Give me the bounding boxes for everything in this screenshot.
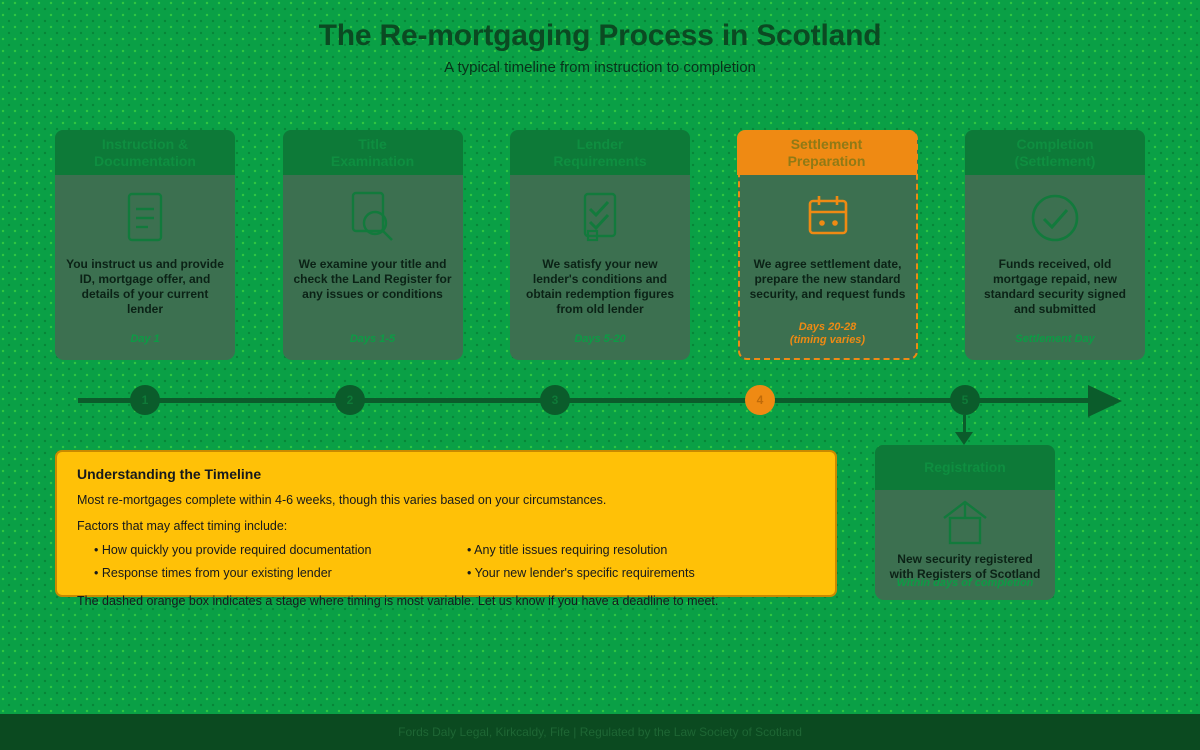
page-header: The Re-mortgaging Process in Scotland A … — [0, 14, 1200, 80]
stage-description: We agree settlement date, prepare the ne… — [740, 257, 916, 302]
stage-description: We satisfy your new lender's conditions … — [510, 257, 690, 317]
info-box-factor-list: • How quickly you provide required docum… — [77, 543, 815, 581]
stage-title: Settlement Preparation — [788, 136, 866, 170]
timeline-line — [78, 398, 1094, 403]
info-box-factors-intro: Factors that may affect timing include: — [77, 519, 815, 534]
stage-timing: Days 5-20 — [510, 333, 690, 346]
info-box-lead: Most re-mortgages complete within 4-6 we… — [77, 493, 815, 508]
checklist-icon — [577, 189, 623, 247]
stage-title: Lender Requirements — [553, 136, 646, 170]
stage-title: Completion (Settlement) — [1015, 136, 1096, 170]
timeline-node-5[interactable]: 5 — [950, 385, 980, 415]
stage-timing: Settlement Day — [965, 333, 1145, 346]
stage-card-header: Completion (Settlement) — [965, 130, 1145, 175]
calendar-icon — [803, 189, 853, 247]
stage-card-instruction-documentation[interactable]: Instruction & Documentation You instruct… — [55, 130, 235, 360]
info-box-footnote: The dashed orange box indicates a stage … — [77, 594, 815, 609]
house-icon — [938, 498, 992, 546]
list-item: • Any title issues requiring resolution — [450, 543, 815, 558]
stage-title: Title Examination — [331, 136, 414, 170]
stage-description: Funds received, old mortgage repaid, new… — [965, 257, 1145, 317]
stage-card-header: Lender Requirements — [510, 130, 690, 175]
stage-timing: Day 1 — [55, 333, 235, 346]
stage-card-title-examination[interactable]: Title Examination We examine your title … — [283, 130, 463, 360]
stage-card-header: Title Examination — [283, 130, 463, 175]
stage-description: We examine your title and check the Land… — [283, 257, 463, 302]
stage-card-lender-requirements[interactable]: Lender Requirements We satisfy your new … — [510, 130, 690, 360]
info-box-title: Understanding the Timeline — [77, 466, 815, 482]
check-circle-icon — [1029, 189, 1081, 247]
page-footer: Fords Daly Legal, Kirkcaldy, Fife | Regu… — [0, 714, 1200, 750]
stage-timing: Within days of completion — [875, 577, 1055, 590]
registration-branch-arrow-icon — [955, 432, 973, 445]
page-title: The Re-mortgaging Process in Scotland — [0, 14, 1200, 58]
timeline-node-2[interactable]: 2 — [335, 385, 365, 415]
document-search-icon — [347, 189, 399, 247]
timeline-axis: 1 2 3 4 5 — [0, 385, 1200, 425]
list-item: • Your new lender's specific requirement… — [450, 566, 815, 581]
list-item: • Response times from your existing lend… — [77, 566, 450, 581]
info-box: Understanding the Timeline Most re-mortg… — [55, 450, 837, 597]
stage-card-settlement-preparation[interactable]: Settlement Preparation We agree settleme… — [738, 130, 918, 360]
timeline-arrowhead-icon — [1088, 385, 1122, 417]
timeline-node-1[interactable]: 1 — [130, 385, 160, 415]
timeline-node-4[interactable]: 4 — [745, 385, 775, 415]
stage-card-registration[interactable]: Registration New security registered wit… — [875, 445, 1055, 600]
list-item: • How quickly you provide required docum… — [77, 543, 450, 558]
stage-timing: Days 1-5 — [283, 333, 463, 346]
stage-title: Registration — [924, 459, 1006, 476]
stage-card-row: Instruction & Documentation You instruct… — [55, 130, 1145, 360]
stage-card-header: Settlement Preparation — [737, 130, 917, 175]
stage-title: Instruction & Documentation — [94, 136, 196, 170]
document-icon — [123, 189, 167, 247]
stage-card-header: Registration — [875, 445, 1055, 490]
timeline-node-3[interactable]: 3 — [540, 385, 570, 415]
stage-card-header: Instruction & Documentation — [55, 130, 235, 175]
stage-description: You instruct us and provide ID, mortgage… — [55, 257, 235, 317]
stage-card-completion-settlement[interactable]: Completion (Settlement) Funds received, … — [965, 130, 1145, 360]
footer-text: Fords Daly Legal, Kirkcaldy, Fife | Regu… — [398, 725, 802, 739]
page-subtitle: A typical timeline from instruction to c… — [0, 56, 1200, 80]
stage-timing: Days 20-28 (timing varies) — [740, 321, 916, 347]
